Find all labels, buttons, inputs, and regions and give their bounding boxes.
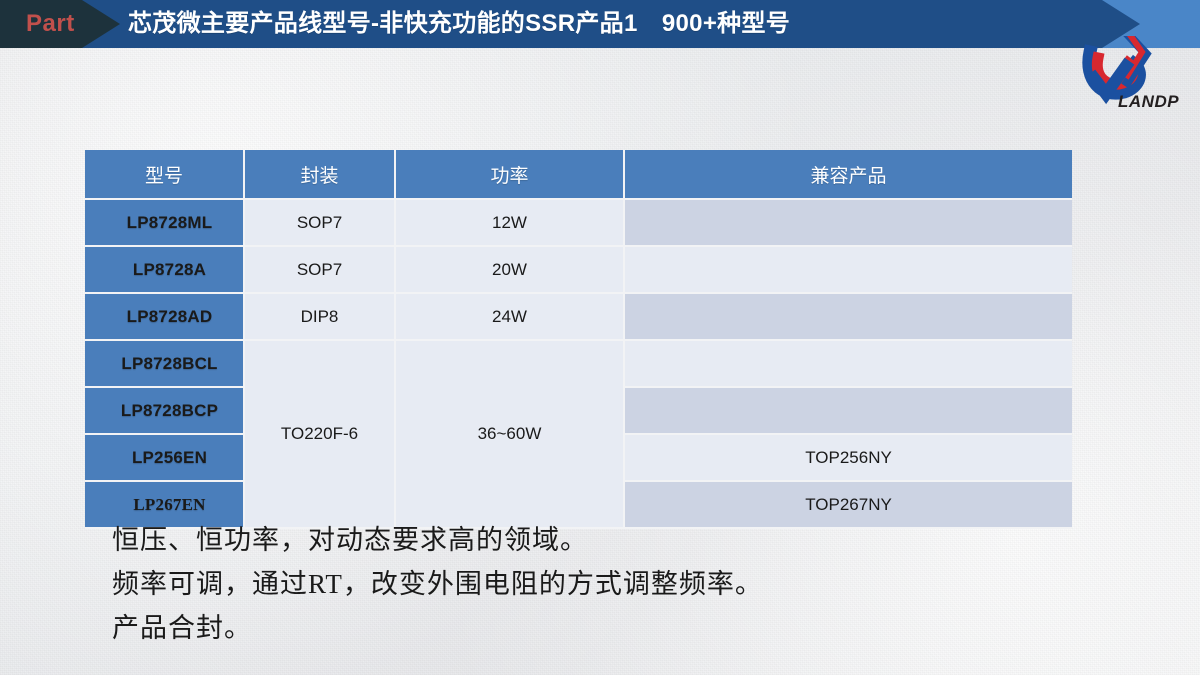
cell-model: LP256EN xyxy=(85,435,245,482)
col-header-power: 功率 xyxy=(396,150,625,200)
cell-power: 24W xyxy=(396,294,625,341)
cell-power-merged: 36~60W xyxy=(396,341,625,529)
cell-compatible xyxy=(625,247,1072,294)
cell-compatible xyxy=(625,388,1072,435)
cell-compatible xyxy=(625,341,1072,388)
cell-package: SOP7 xyxy=(245,247,396,294)
table-row: LP8728AD DIP8 24W xyxy=(85,294,1072,341)
cell-compatible xyxy=(625,294,1072,341)
cell-model: LP8728BCL xyxy=(85,341,245,388)
page-title: 芯茂微主要产品线型号-非快充功能的SSR产品1 900+种型号 xyxy=(128,0,790,48)
cell-model: LP8728ML xyxy=(85,200,245,247)
col-header-compatible: 兼容产品 xyxy=(625,150,1072,200)
col-header-model: 型号 xyxy=(85,150,245,200)
cell-package: DIP8 xyxy=(245,294,396,341)
cell-package-merged: TO220F-6 xyxy=(245,341,396,529)
cell-model: LP8728A xyxy=(85,247,245,294)
cell-compatible: TOP256NY xyxy=(625,435,1072,482)
cell-model: LP8728AD xyxy=(85,294,245,341)
note-line-3: 产品合封。 xyxy=(112,606,1012,650)
cell-compatible xyxy=(625,200,1072,247)
table-header-row: 型号 封装 功率 兼容产品 xyxy=(85,150,1072,200)
table-row: LP8728A SOP7 20W xyxy=(85,247,1072,294)
logo-wordmark: LANDP xyxy=(1118,92,1179,112)
cell-model: LP8728BCP xyxy=(85,388,245,435)
product-table: 型号 封装 功率 兼容产品 LP8728ML SOP7 12W LP8728A … xyxy=(85,150,1072,529)
table-row: LP8728ML SOP7 12W xyxy=(85,200,1072,247)
notes-block: 恒压、恒功率，对动态要求高的领域。 频率可调，通过RT，改变外围电阻的方式调整频… xyxy=(112,518,1012,650)
landp-logo: LANDP xyxy=(1076,36,1194,118)
col-header-package: 封装 xyxy=(245,150,396,200)
cell-power: 12W xyxy=(396,200,625,247)
part-label: Part xyxy=(26,0,75,48)
title-banner: Part 芯茂微主要产品线型号-非快充功能的SSR产品1 900+种型号 xyxy=(0,0,1200,48)
note-line-1: 恒压、恒功率，对动态要求高的领域。 xyxy=(112,518,1012,562)
cell-power: 20W xyxy=(396,247,625,294)
slide-background: Part 芯茂微主要产品线型号-非快充功能的SSR产品1 900+种型号 LAN… xyxy=(0,0,1200,675)
cell-package: SOP7 xyxy=(245,200,396,247)
note-line-2: 频率可调，通过RT，改变外围电阻的方式调整频率。 xyxy=(112,562,1012,606)
table-row: LP8728BCL TO220F-6 36~60W xyxy=(85,341,1072,388)
